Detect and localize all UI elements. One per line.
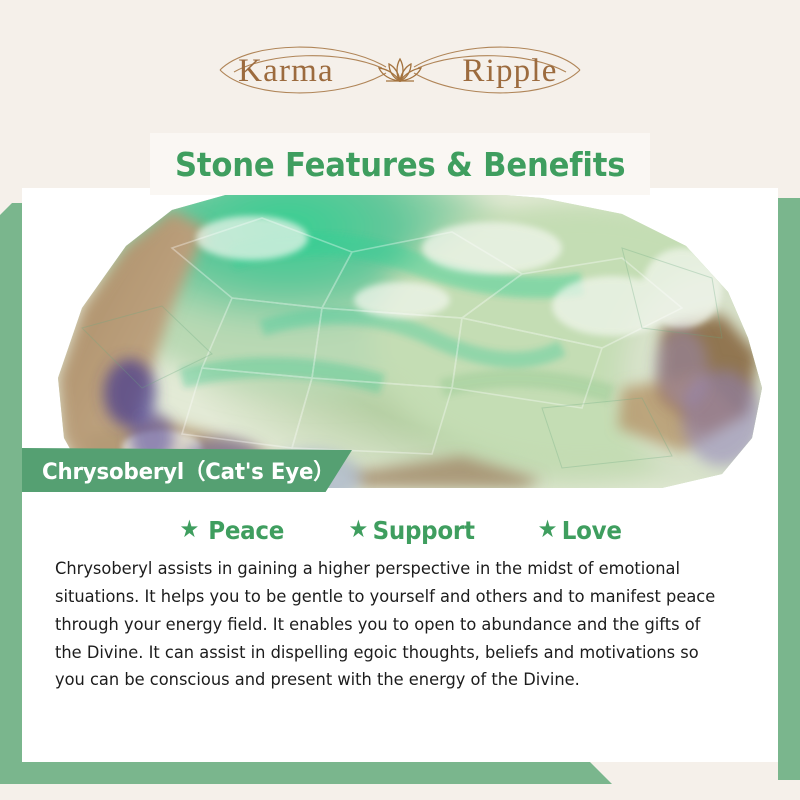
stone-photo-image <box>22 188 778 488</box>
title-banner: Stone Features & Benefits <box>150 133 650 195</box>
keyword-peace: ★ Peace <box>179 516 284 545</box>
keyword-love: ★ Love <box>537 516 621 545</box>
page-title: Stone Features & Benefits <box>175 145 625 184</box>
keyword-label: Support <box>372 516 474 545</box>
star-icon: ★ <box>537 517 557 541</box>
keyword-list: ★ Peace ★ Support ★ Love <box>22 510 778 550</box>
stone-name-label: Chrysoberyl（Cat's Eye） <box>42 448 334 492</box>
keyword-label: Love <box>561 516 621 545</box>
stone-photo <box>22 188 778 488</box>
content-panel: Chrysoberyl（Cat's Eye） ★ Peace ★ Support… <box>22 188 778 762</box>
brand-word-right: Ripple <box>462 53 557 89</box>
keyword-label: Peace <box>208 516 284 545</box>
stone-description: Chrysoberyl assists in gaining a higher … <box>55 556 717 695</box>
frame-band-bottom <box>0 762 612 784</box>
brand-word-left: Karma <box>238 53 334 89</box>
karma-ripple-logo-mark: Karma Ripple <box>190 34 610 106</box>
brand-logo[interactable]: Karma Ripple <box>0 34 800 106</box>
keyword-support: ★ Support <box>348 516 474 545</box>
stone-name-banner: Chrysoberyl（Cat's Eye） <box>22 448 352 492</box>
star-icon: ★ <box>348 517 368 541</box>
frame-band-left <box>0 203 22 780</box>
star-icon: ★ <box>179 517 199 541</box>
